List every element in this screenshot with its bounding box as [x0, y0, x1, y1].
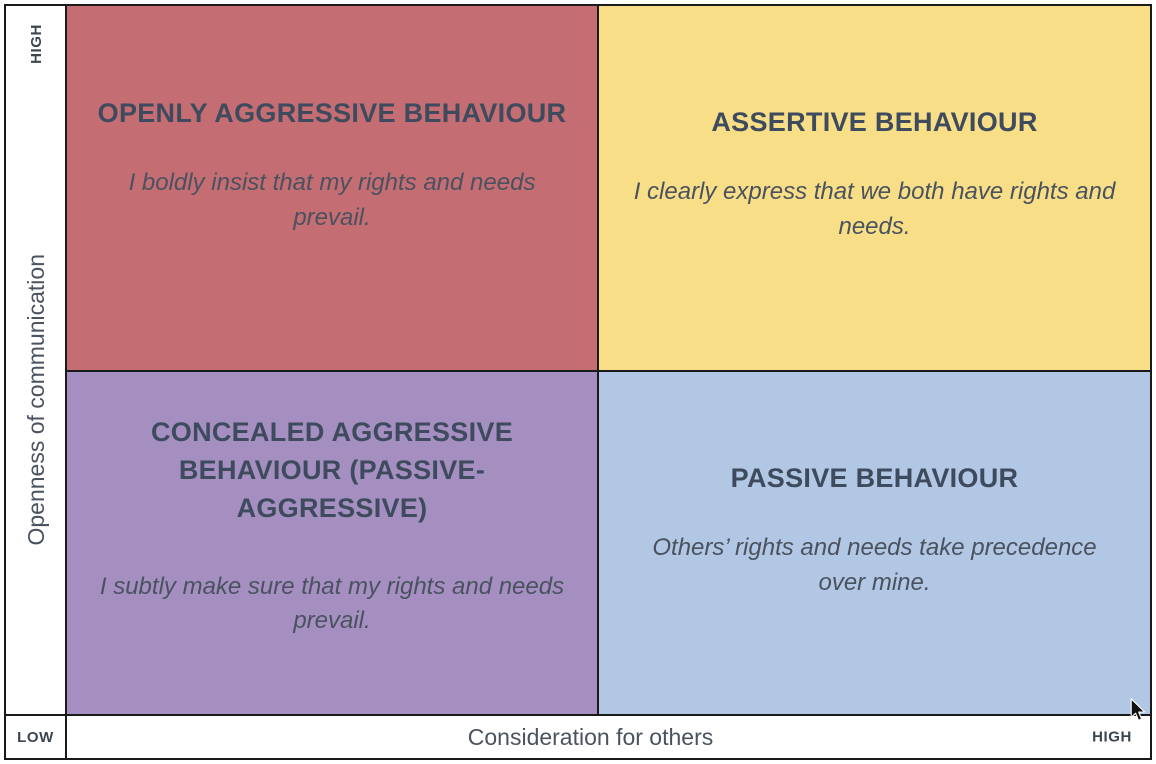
quadrant-title: OPENLY AGGRESSIVE BEHAVIOUR	[98, 94, 567, 132]
quadrant-grid: OPENLY AGGRESSIVE BEHAVIOUR I boldly ins…	[67, 6, 1150, 714]
quadrant-concealed-aggressive[interactable]: CONCEALED AGGRESSIVE BEHAVIOUR (PASSIVE-…	[67, 372, 599, 714]
quadrant-description: Others’ rights and needs take precedence…	[627, 531, 1122, 601]
quadrant-openly-aggressive[interactable]: OPENLY AGGRESSIVE BEHAVIOUR I boldly ins…	[67, 6, 599, 372]
x-axis: LOW Consideration for others HIGH	[6, 714, 1150, 758]
x-axis-main: Consideration for others HIGH	[67, 716, 1150, 758]
quadrant-description: I clearly express that we both have righ…	[627, 175, 1122, 245]
x-axis-low-label: LOW	[6, 716, 67, 758]
y-axis-title-wrap: Openness of communication	[6, 82, 67, 718]
quadrant-assertive[interactable]: ASSERTIVE BEHAVIOUR I clearly express th…	[599, 6, 1150, 372]
y-axis: HIGH Openness of communication	[6, 6, 67, 714]
quadrant-passive[interactable]: PASSIVE BEHAVIOUR Others’ rights and nee…	[599, 372, 1150, 714]
y-axis-high-tick: HIGH	[6, 6, 67, 82]
matrix-frame: HIGH Openness of communication OPENLY AG…	[4, 4, 1152, 760]
quadrant-title: PASSIVE BEHAVIOUR	[731, 459, 1019, 497]
matrix-plot-region: HIGH Openness of communication OPENLY AG…	[6, 6, 1150, 714]
x-axis-high-label: HIGH	[1092, 729, 1132, 746]
x-axis-title: Consideration for others	[468, 724, 713, 751]
quadrant-title: CONCEALED AGGRESSIVE BEHAVIOUR (PASSIVE-…	[95, 413, 569, 528]
quadrant-description: I boldly insist that my rights and needs…	[95, 166, 569, 236]
y-axis-high-label: HIGH	[28, 24, 45, 64]
y-axis-title: Openness of communication	[23, 254, 50, 546]
behaviour-matrix-canvas: HIGH Openness of communication OPENLY AG…	[0, 0, 1156, 764]
quadrant-title: ASSERTIVE BEHAVIOUR	[711, 103, 1037, 141]
quadrant-description: I subtly make sure that my rights and ne…	[95, 570, 569, 640]
